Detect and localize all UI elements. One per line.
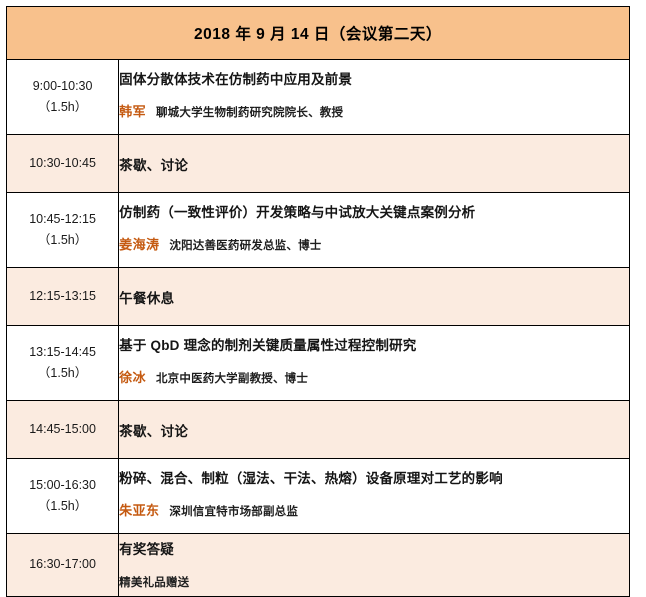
session-title: 仿制药（一致性评价）开发策略与中试放大关键点案例分析 bbox=[119, 203, 629, 223]
speaker-line: 徐冰北京中医药大学副教授、博士 bbox=[119, 367, 629, 389]
session-content-cell: 粉碎、混合、制粒（湿法、干法、热熔）设备原理对工艺的影响朱亚东深圳信宜特市场部副… bbox=[119, 459, 630, 534]
session-time-cell: 9:00-10:30（1.5h） bbox=[7, 60, 119, 135]
session-time-cell: 15:00-16:30（1.5h） bbox=[7, 459, 119, 534]
table-header-row: 2018 年 9 月 14 日（会议第二天） bbox=[7, 7, 630, 60]
table-row: 15:00-16:30（1.5h）粉碎、混合、制粒（湿法、干法、热熔）设备原理对… bbox=[7, 459, 630, 534]
conference-agenda-table: 2018 年 9 月 14 日（会议第二天） 9:00-10:30（1.5h）固… bbox=[6, 6, 630, 597]
table-row: 12:15-13:15午餐休息 bbox=[7, 268, 630, 326]
session-content-cell: 有奖答疑精美礼品赠送 bbox=[119, 534, 630, 597]
session-time-cell: 10:45-12:15（1.5h） bbox=[7, 193, 119, 268]
table-row: 10:30-10:45茶歇、讨论 bbox=[7, 135, 630, 193]
speaker-name: 韩军 bbox=[119, 104, 146, 119]
session-title: 固体分散体技术在仿制药中应用及前景 bbox=[119, 70, 629, 90]
session-time-cell: 14:45-15:00 bbox=[7, 401, 119, 459]
agenda-body: 9:00-10:30（1.5h）固体分散体技术在仿制药中应用及前景韩军聊城大学生… bbox=[7, 60, 630, 597]
session-content-cell: 基于 QbD 理念的制剂关键质量属性过程控制研究徐冰北京中医药大学副教授、博士 bbox=[119, 326, 630, 401]
session-time: 13:15-14:45 bbox=[29, 345, 96, 359]
session-time: 16:30-17:00 bbox=[29, 557, 96, 571]
session-title: 基于 QbD 理念的制剂关键质量属性过程控制研究 bbox=[119, 336, 629, 356]
session-time-cell: 10:30-10:45 bbox=[7, 135, 119, 193]
speaker-affiliation: 北京中医药大学副教授、博士 bbox=[156, 373, 308, 385]
break-label: 茶歇、讨论 bbox=[119, 420, 629, 440]
session-time-cell: 12:15-13:15 bbox=[7, 268, 119, 326]
session-time: 9:00-10:30 bbox=[33, 79, 93, 93]
session-content-cell: 午餐休息 bbox=[119, 268, 630, 326]
session-content-cell: 茶歇、讨论 bbox=[119, 401, 630, 459]
table-row: 13:15-14:45（1.5h）基于 QbD 理念的制剂关键质量属性过程控制研… bbox=[7, 326, 630, 401]
session-time: 10:45-12:15 bbox=[29, 212, 96, 226]
session-time: 10:30-10:45 bbox=[29, 156, 96, 170]
table-row: 9:00-10:30（1.5h）固体分散体技术在仿制药中应用及前景韩军聊城大学生… bbox=[7, 60, 630, 135]
session-title: 有奖答疑 bbox=[119, 540, 629, 560]
session-duration: （1.5h） bbox=[7, 97, 118, 118]
session-time: 15:00-16:30 bbox=[29, 478, 96, 492]
speaker-line: 朱亚东深圳信宜特市场部副总监 bbox=[119, 500, 629, 522]
session-note: 精美礼品赠送 bbox=[119, 574, 629, 590]
session-duration: （1.5h） bbox=[7, 230, 118, 251]
speaker-affiliation: 沈阳达善医药研发总监、博士 bbox=[169, 240, 321, 252]
session-title: 粉碎、混合、制粒（湿法、干法、热熔）设备原理对工艺的影响 bbox=[119, 469, 629, 489]
table-row: 16:30-17:00有奖答疑精美礼品赠送 bbox=[7, 534, 630, 597]
session-time-cell: 16:30-17:00 bbox=[7, 534, 119, 597]
session-duration: （1.5h） bbox=[7, 496, 118, 517]
break-label: 午餐休息 bbox=[119, 287, 629, 307]
agenda-date-title: 2018 年 9 月 14 日（会议第二天） bbox=[7, 7, 630, 60]
break-label: 茶歇、讨论 bbox=[119, 154, 629, 174]
table-row: 10:45-12:15（1.5h）仿制药（一致性评价）开发策略与中试放大关键点案… bbox=[7, 193, 630, 268]
speaker-name: 徐冰 bbox=[119, 370, 146, 385]
session-content-cell: 茶歇、讨论 bbox=[119, 135, 630, 193]
speaker-affiliation: 聊城大学生物制药研究院院长、教授 bbox=[156, 107, 343, 119]
speaker-line: 姜海涛沈阳达善医药研发总监、博士 bbox=[119, 234, 629, 256]
speaker-affiliation: 深圳信宜特市场部副总监 bbox=[169, 506, 298, 518]
session-content-cell: 固体分散体技术在仿制药中应用及前景韩军聊城大学生物制药研究院院长、教授 bbox=[119, 60, 630, 135]
session-time: 12:15-13:15 bbox=[29, 289, 96, 303]
session-duration: （1.5h） bbox=[7, 363, 118, 384]
session-time-cell: 13:15-14:45（1.5h） bbox=[7, 326, 119, 401]
session-content-cell: 仿制药（一致性评价）开发策略与中试放大关键点案例分析姜海涛沈阳达善医药研发总监、… bbox=[119, 193, 630, 268]
agenda-page: 2018 年 9 月 14 日（会议第二天） 9:00-10:30（1.5h）固… bbox=[0, 0, 646, 591]
session-time: 14:45-15:00 bbox=[29, 422, 96, 436]
speaker-name: 姜海涛 bbox=[119, 237, 159, 252]
speaker-name: 朱亚东 bbox=[119, 503, 159, 518]
table-row: 14:45-15:00茶歇、讨论 bbox=[7, 401, 630, 459]
speaker-line: 韩军聊城大学生物制药研究院院长、教授 bbox=[119, 101, 629, 123]
